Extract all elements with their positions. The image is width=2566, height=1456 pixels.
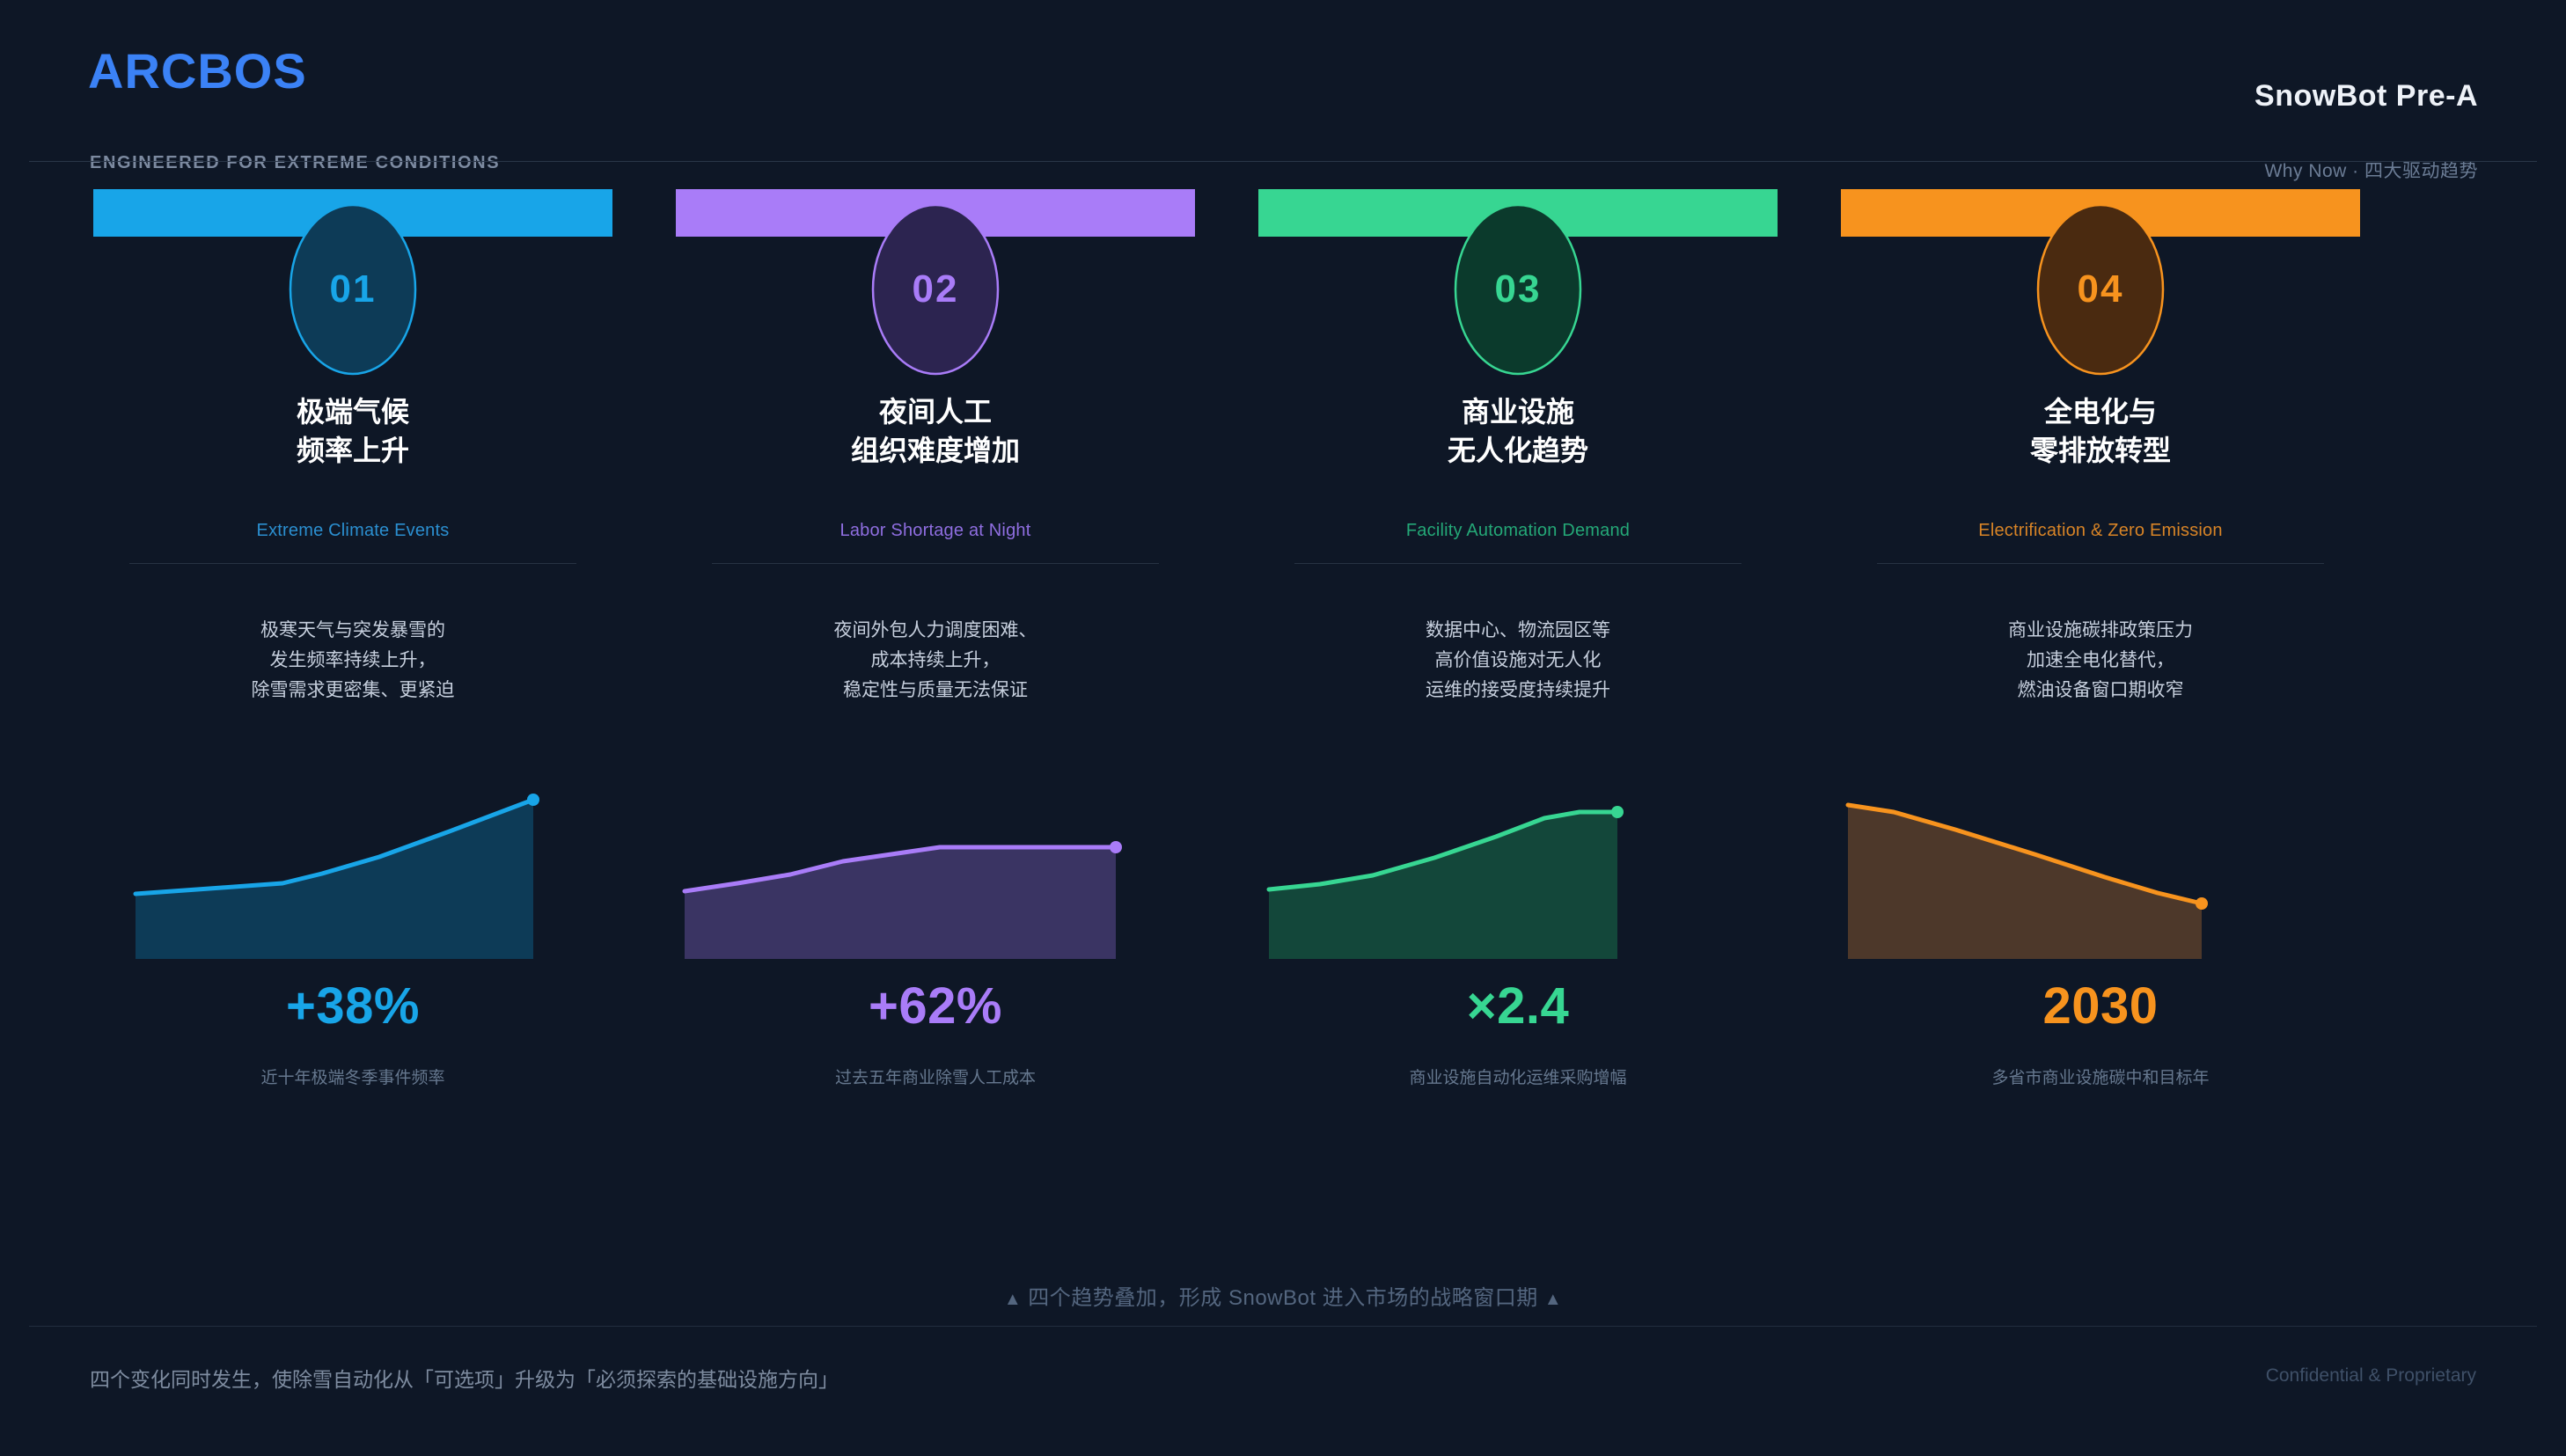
- trend-stat-caption: 近十年极端冬季事件频率: [93, 1065, 612, 1088]
- sparkline-chart: [93, 770, 612, 972]
- trend-card-03[interactable]: 03 商业设施 无人化趋势 Facility Automation Demand…: [1258, 176, 1778, 1249]
- trend-card-04[interactable]: 04 全电化与 零排放转型 Electrification & Zero Emi…: [1841, 176, 2360, 1249]
- trend-title-cn: 商业设施 无人化趋势: [1258, 392, 1778, 470]
- trend-card-01[interactable]: 01 极端气候 频率上升 Extreme Climate Events 极寒天气…: [93, 176, 612, 1249]
- sparkline-chart: [1841, 770, 2360, 972]
- desc-line-2: 发生频率持续上升，: [93, 646, 612, 676]
- triangle-left-icon: ▲: [1004, 1290, 1022, 1309]
- desc-line-3: 运维的接受度持续提升: [1258, 676, 1778, 706]
- desc-line-2: 成本持续上升，: [676, 646, 1195, 676]
- header-divider: [29, 161, 2537, 162]
- trend-number: 02: [870, 202, 1001, 377]
- trend-description: 夜间外包人力调度困难、 成本持续上升， 稳定性与质量无法保证: [676, 616, 1195, 706]
- footer-divider: [29, 1326, 2537, 1327]
- footer-highlight-text: 四个趋势叠加，形成 SnowBot 进入市场的战略窗口期: [1028, 1286, 1537, 1310]
- trend-title-cn: 极端气候 频率上升: [93, 392, 612, 470]
- brand-tagline: ENGINEERED FOR EXTREME CONDITIONS: [90, 153, 500, 173]
- trend-columns: 01 极端气候 频率上升 Extreme Climate Events 极寒天气…: [0, 176, 2566, 1249]
- trend-title-cn: 夜间人工 组织难度增加: [676, 392, 1195, 470]
- trend-stat: +38%: [93, 977, 612, 1035]
- trend-title-en: Facility Automation Demand: [1258, 521, 1778, 541]
- number-ellipse: 01: [288, 202, 418, 377]
- slide-root: ARCBOS ENGINEERED FOR EXTREME CONDITIONS…: [0, 0, 2566, 1456]
- trend-card-02[interactable]: 02 夜间人工 组织难度增加 Labor Shortage at Night 夜…: [676, 176, 1195, 1249]
- desc-line-3: 燃油设备窗口期收窄: [1841, 676, 2360, 706]
- sparkline-chart: [676, 770, 1195, 972]
- desc-line-1: 商业设施碳排政策压力: [1841, 616, 2360, 646]
- card-divider: [712, 563, 1159, 564]
- footer-highlight: ▲ 四个趋势叠加，形成 SnowBot 进入市场的战略窗口期 ▲: [0, 1280, 2566, 1311]
- desc-line-2: 高价值设施对无人化: [1258, 646, 1778, 676]
- brand-logo: ARCBOS: [88, 42, 307, 99]
- triangle-right-icon: ▲: [1544, 1290, 1562, 1309]
- trend-title-cn-line1: 极端气候: [93, 392, 612, 431]
- trend-title-cn-line2: 组织难度增加: [676, 431, 1195, 470]
- number-ellipse: 04: [2035, 202, 2166, 377]
- trend-number: 03: [1453, 202, 1583, 377]
- deck-title: SnowBot Pre-A: [2254, 79, 2478, 113]
- trend-title-cn-line2: 零排放转型: [1841, 431, 2360, 470]
- desc-line-1: 极寒天气与突发暴雪的: [93, 616, 612, 646]
- trend-title-cn-line1: 全电化与: [1841, 392, 2360, 431]
- footer-summary: 四个变化同时发生，使除雪自动化从「可选项」升级为「必须探索的基础设施方向」: [90, 1363, 839, 1393]
- trend-stat-caption: 过去五年商业除雪人工成本: [676, 1065, 1195, 1088]
- number-ellipse: 03: [1453, 202, 1583, 377]
- trend-description: 极寒天气与突发暴雪的 发生频率持续上升， 除雪需求更密集、更紧迫: [93, 616, 612, 706]
- trend-description: 数据中心、物流园区等 高价值设施对无人化 运维的接受度持续提升: [1258, 616, 1778, 706]
- trend-title-cn-line2: 无人化趋势: [1258, 431, 1778, 470]
- desc-line-2: 加速全电化替代，: [1841, 646, 2360, 676]
- trend-description: 商业设施碳排政策压力 加速全电化替代， 燃油设备窗口期收窄: [1841, 616, 2360, 706]
- card-divider: [1877, 563, 2324, 564]
- card-divider: [1294, 563, 1741, 564]
- trend-stat-caption: 商业设施自动化运维采购增幅: [1258, 1065, 1778, 1088]
- trend-title-cn-line1: 商业设施: [1258, 392, 1778, 431]
- desc-line-3: 稳定性与质量无法保证: [676, 676, 1195, 706]
- trend-number: 01: [288, 202, 418, 377]
- trend-stat-caption: 多省市商业设施碳中和目标年: [1841, 1065, 2360, 1088]
- footer-confidential: Confidential & Proprietary: [2266, 1365, 2476, 1386]
- card-divider: [129, 563, 576, 564]
- trend-title-cn-line2: 频率上升: [93, 431, 612, 470]
- trend-title-en: Electrification & Zero Emission: [1841, 521, 2360, 541]
- trend-number: 04: [2035, 202, 2166, 377]
- trend-stat: 2030: [1841, 977, 2360, 1035]
- trend-title-en: Extreme Climate Events: [93, 521, 612, 541]
- desc-line-3: 除雪需求更密集、更紧迫: [93, 676, 612, 706]
- slide-header: ARCBOS ENGINEERED FOR EXTREME CONDITIONS…: [88, 32, 2478, 155]
- sparkline-chart: [1258, 770, 1778, 972]
- number-ellipse: 02: [870, 202, 1001, 377]
- desc-line-1: 数据中心、物流园区等: [1258, 616, 1778, 646]
- desc-line-1: 夜间外包人力调度困难、: [676, 616, 1195, 646]
- trend-title-cn: 全电化与 零排放转型: [1841, 392, 2360, 470]
- trend-title-cn-line1: 夜间人工: [676, 392, 1195, 431]
- trend-stat: +62%: [676, 977, 1195, 1035]
- trend-title-en: Labor Shortage at Night: [676, 521, 1195, 541]
- trend-stat: ×2.4: [1258, 977, 1778, 1035]
